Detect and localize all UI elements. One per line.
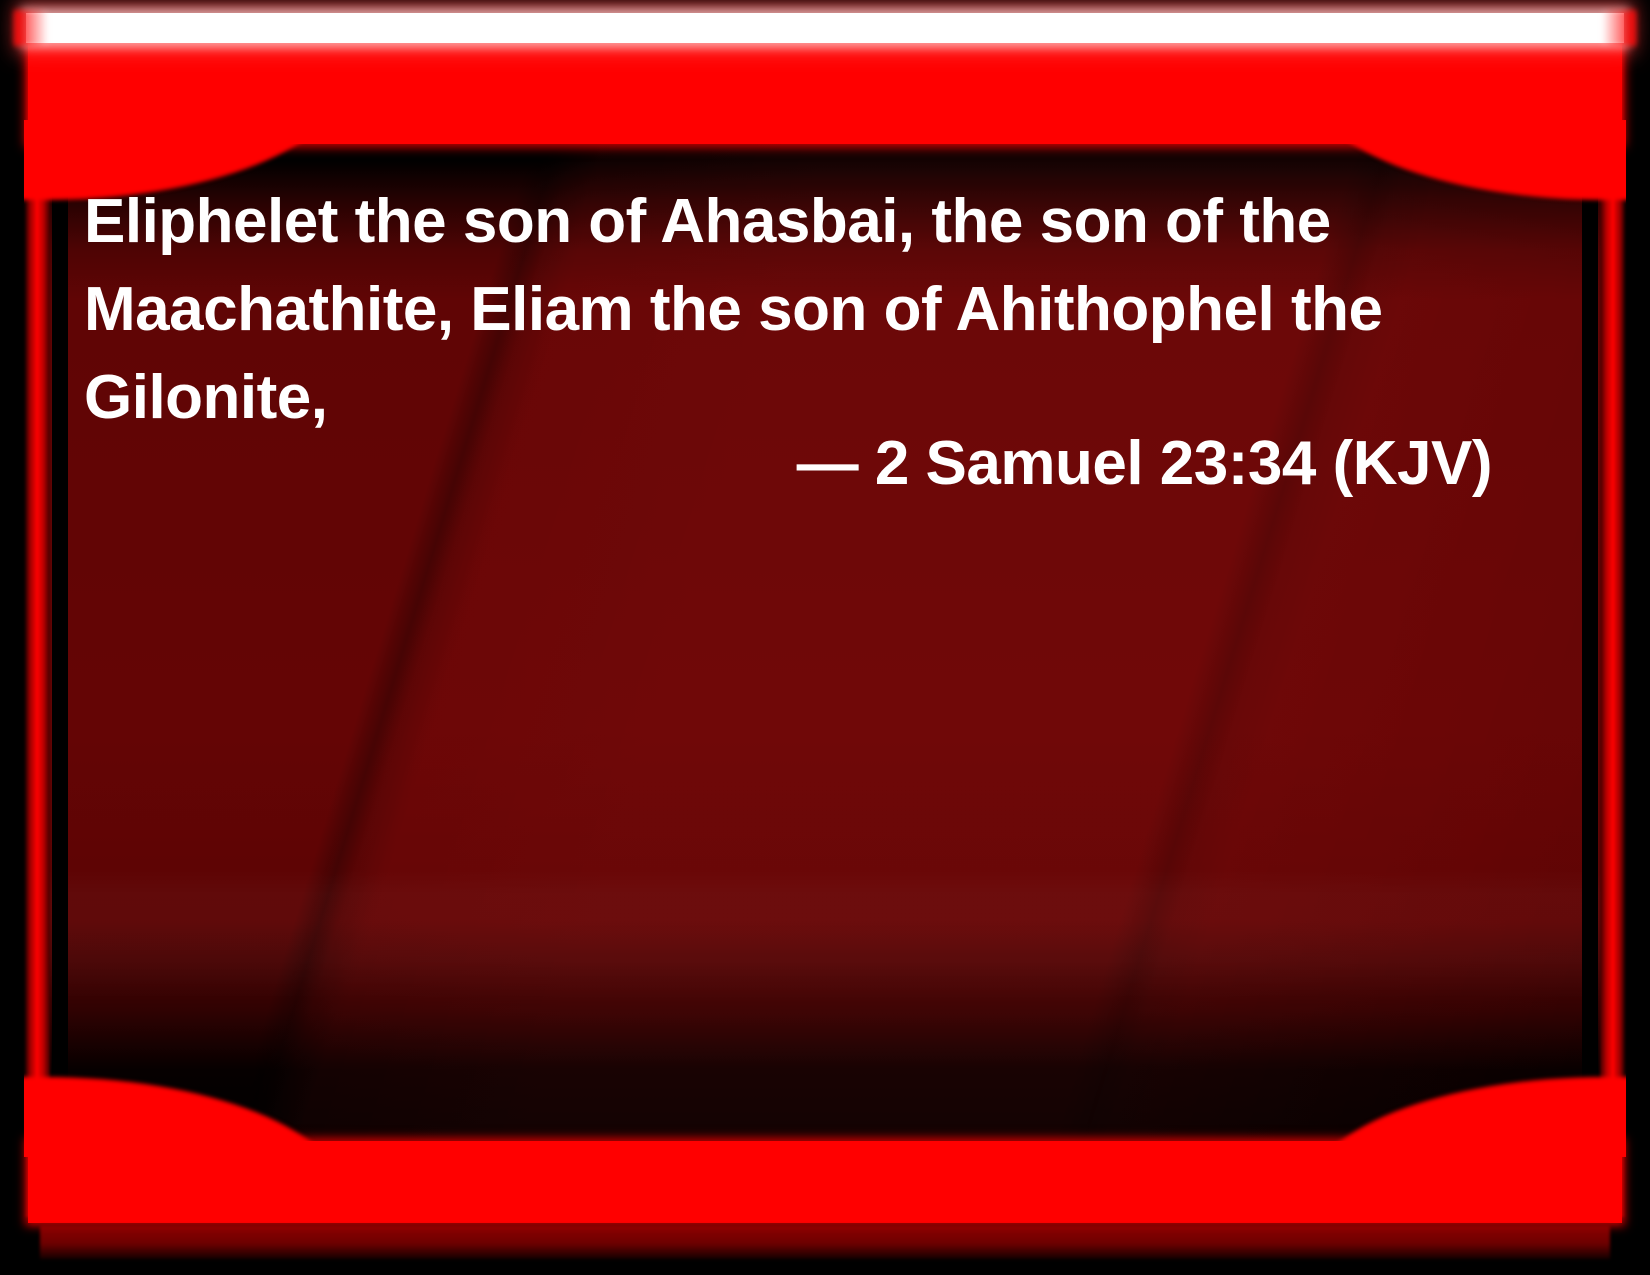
background-diagonal-wedge: [48, 130, 1602, 1140]
frame-top-band: [28, 38, 1622, 144]
background-seam-secondary: [48, 130, 1602, 1140]
frame-rail-left: [24, 40, 50, 1217]
frame-rail-right: [1600, 40, 1626, 1217]
frame-top-highlight-cap-right: [1602, 10, 1636, 46]
frame-gap-right: [1582, 150, 1598, 1125]
frame-top-highlight: [26, 13, 1624, 43]
background-horizontal-band: [48, 870, 1602, 1000]
frame-bottom-glow: [40, 1225, 1610, 1259]
frame-top-highlight-cap-left: [14, 10, 48, 46]
background-seam-primary: [48, 130, 1602, 1140]
frame-bottom-band: [28, 1141, 1622, 1223]
content-field: [48, 130, 1602, 1140]
frame-gap-left: [52, 150, 68, 1125]
verse-slide: Eliphelet the son of Ahasbai, the son of…: [0, 0, 1650, 1275]
